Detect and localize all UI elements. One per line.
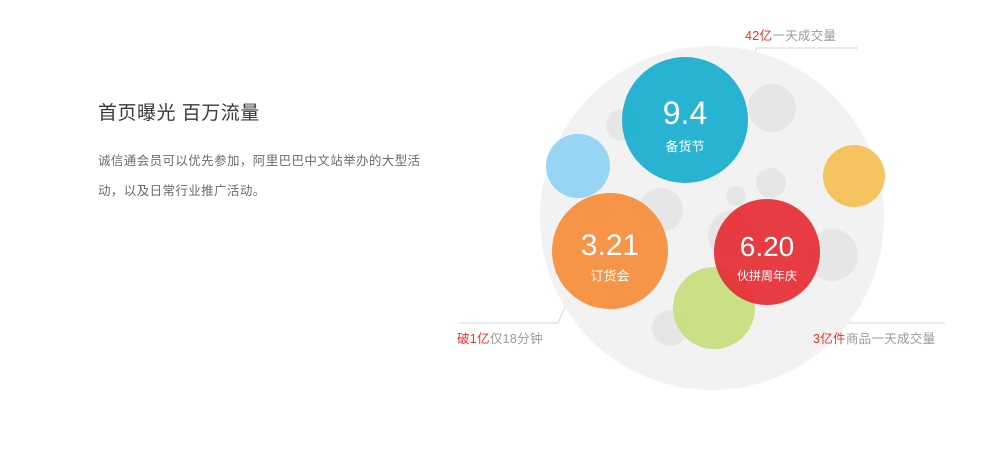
- bubble-red-number: 6.20: [740, 231, 795, 262]
- bubble-cyan[interactable]: 9.4备货节: [622, 57, 748, 183]
- decor-bubble-4: [748, 84, 796, 132]
- bubble-orange[interactable]: 3.21订货会: [552, 193, 668, 309]
- accent-yellow: [823, 145, 885, 207]
- callout-100m-18min-text: 仅18分钟: [490, 332, 543, 346]
- bubble-cluster: 9.4备货节3.21订货会6.20伙拼周年庆: [500, 18, 1000, 438]
- bubble-cyan-label: 备货节: [665, 139, 704, 154]
- bubble-orange-label: 订货会: [590, 269, 629, 284]
- callout-100m-18min-value: 破1亿: [457, 332, 490, 346]
- bubble-red[interactable]: 6.20伙拼周年庆: [714, 199, 820, 305]
- bubble-cluster-canvas: 9.4备货节3.21订货会6.20伙拼周年庆: [500, 18, 1000, 438]
- callout-100m-18min: 破1亿仅18分钟: [457, 331, 543, 347]
- bubble-red-label: 伙拼周年庆: [737, 269, 797, 283]
- accent-light-blue: [546, 134, 610, 198]
- callout-daily-gmv-text: 一天成交量: [772, 29, 836, 43]
- decor-bubble-5: [756, 168, 786, 198]
- callout-daily-gmv-value: 42亿: [745, 29, 772, 43]
- callout-300m-items: 3亿件商品一天成交量: [813, 331, 935, 347]
- infographic-stage: 首页曝光 百万流量 诚信通会员可以优先参加，阿里巴巴中文站举办的大型活 动，以及…: [0, 0, 1000, 459]
- callout-daily-gmv: 42亿一天成交量: [745, 28, 836, 44]
- decor-bubble-6: [726, 186, 746, 206]
- bubble-cyan-number: 9.4: [663, 95, 707, 131]
- callout-300m-items-value: 3亿件: [813, 332, 846, 346]
- callout-300m-items-text: 商品一天成交量: [846, 332, 936, 346]
- bubble-orange-number: 3.21: [581, 229, 639, 262]
